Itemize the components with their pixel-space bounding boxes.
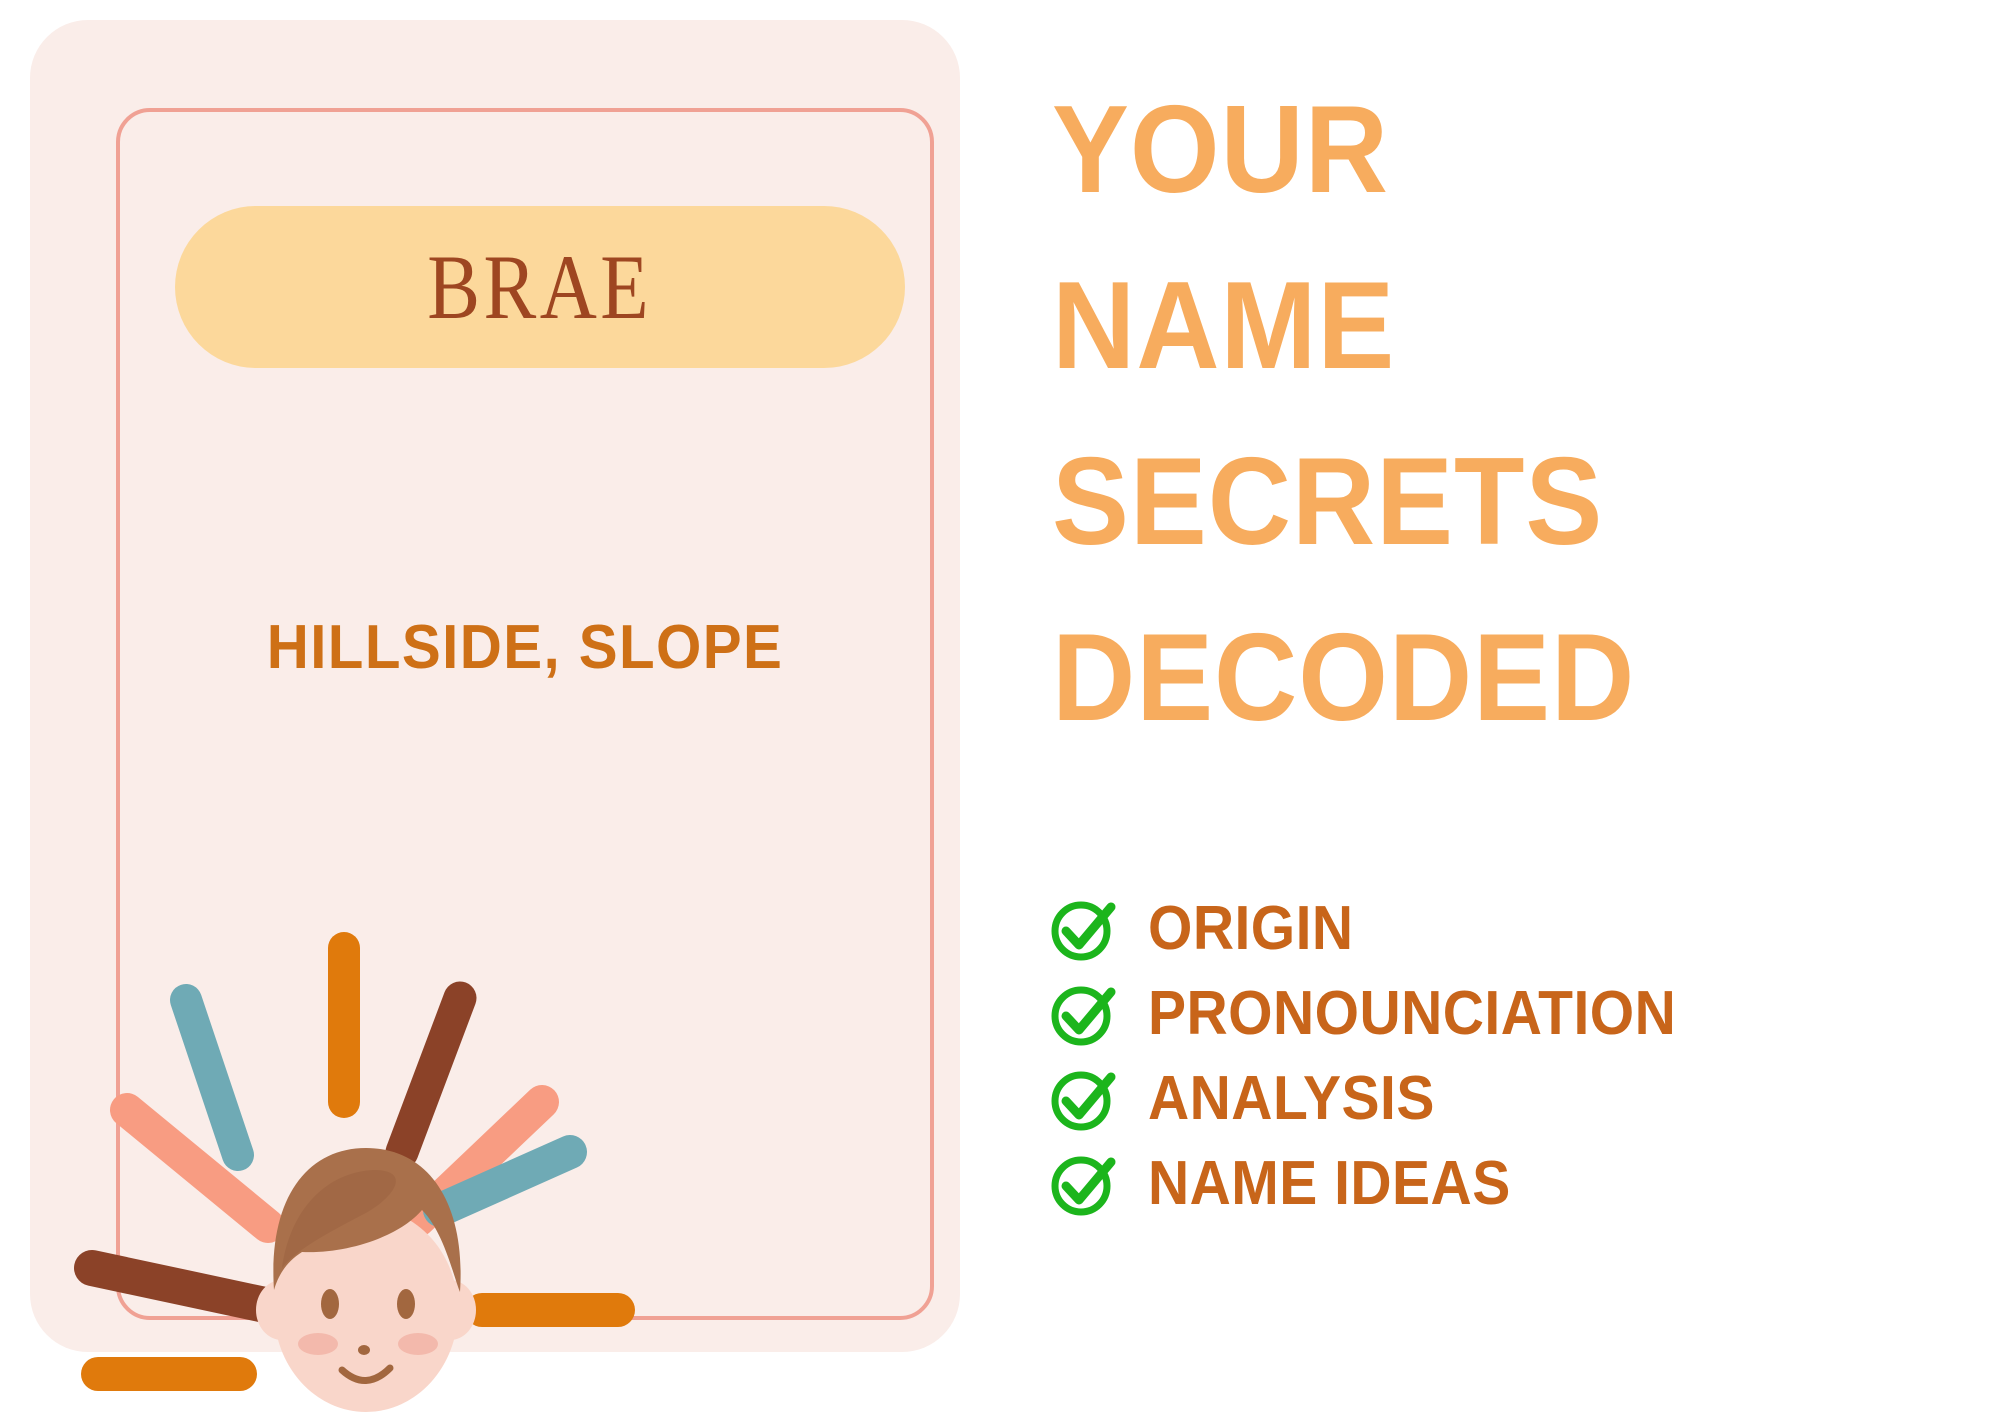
headline-line-3: SECRETS <box>1052 414 1889 590</box>
ray-left-inner-teal <box>186 1000 238 1155</box>
checklist-item-analysis: ANALYSIS <box>1048 1056 1968 1141</box>
ray-left-mid-brown <box>92 1268 265 1305</box>
checklist-label: NAME IDEAS <box>1148 1148 1511 1219</box>
child-face-illustration <box>30 880 960 1414</box>
check-circle-icon <box>1048 978 1120 1050</box>
headline: YOUR NAME SECRETS DECODED <box>1052 62 1952 766</box>
check-circle-icon <box>1048 1063 1120 1135</box>
checklist-item-name-ideas: NAME IDEAS <box>1048 1141 1968 1226</box>
headline-line-4: DECODED <box>1052 590 1889 766</box>
check-circle-icon <box>1048 893 1120 965</box>
name-text: BRAE <box>428 241 653 333</box>
right-eye <box>397 1289 415 1319</box>
name-pill: BRAE <box>175 206 905 368</box>
checklist-item-origin: ORIGIN <box>1048 886 1968 971</box>
name-meaning: HILLSIDE, SLOPE <box>141 612 910 683</box>
left-cheek <box>298 1333 338 1355</box>
ray-right-inner-brown <box>402 998 460 1152</box>
headline-line-1: YOUR <box>1052 62 1889 238</box>
checklist-label: ORIGIN <box>1148 893 1354 964</box>
nose <box>358 1345 370 1355</box>
right-cheek <box>398 1333 438 1355</box>
check-circle-icon <box>1048 1148 1120 1220</box>
checklist-label: ANALYSIS <box>1148 1063 1435 1134</box>
checklist-label: PRONOUNCIATION <box>1148 978 1676 1049</box>
checklist-item-pronounciation: PRONOUNCIATION <box>1048 971 1968 1056</box>
headline-line-2: NAME <box>1052 238 1889 414</box>
feature-checklist: ORIGIN PRONOUNCIATION ANALYSIS NAME IDEA… <box>1048 886 1968 1226</box>
left-eye <box>321 1289 339 1319</box>
